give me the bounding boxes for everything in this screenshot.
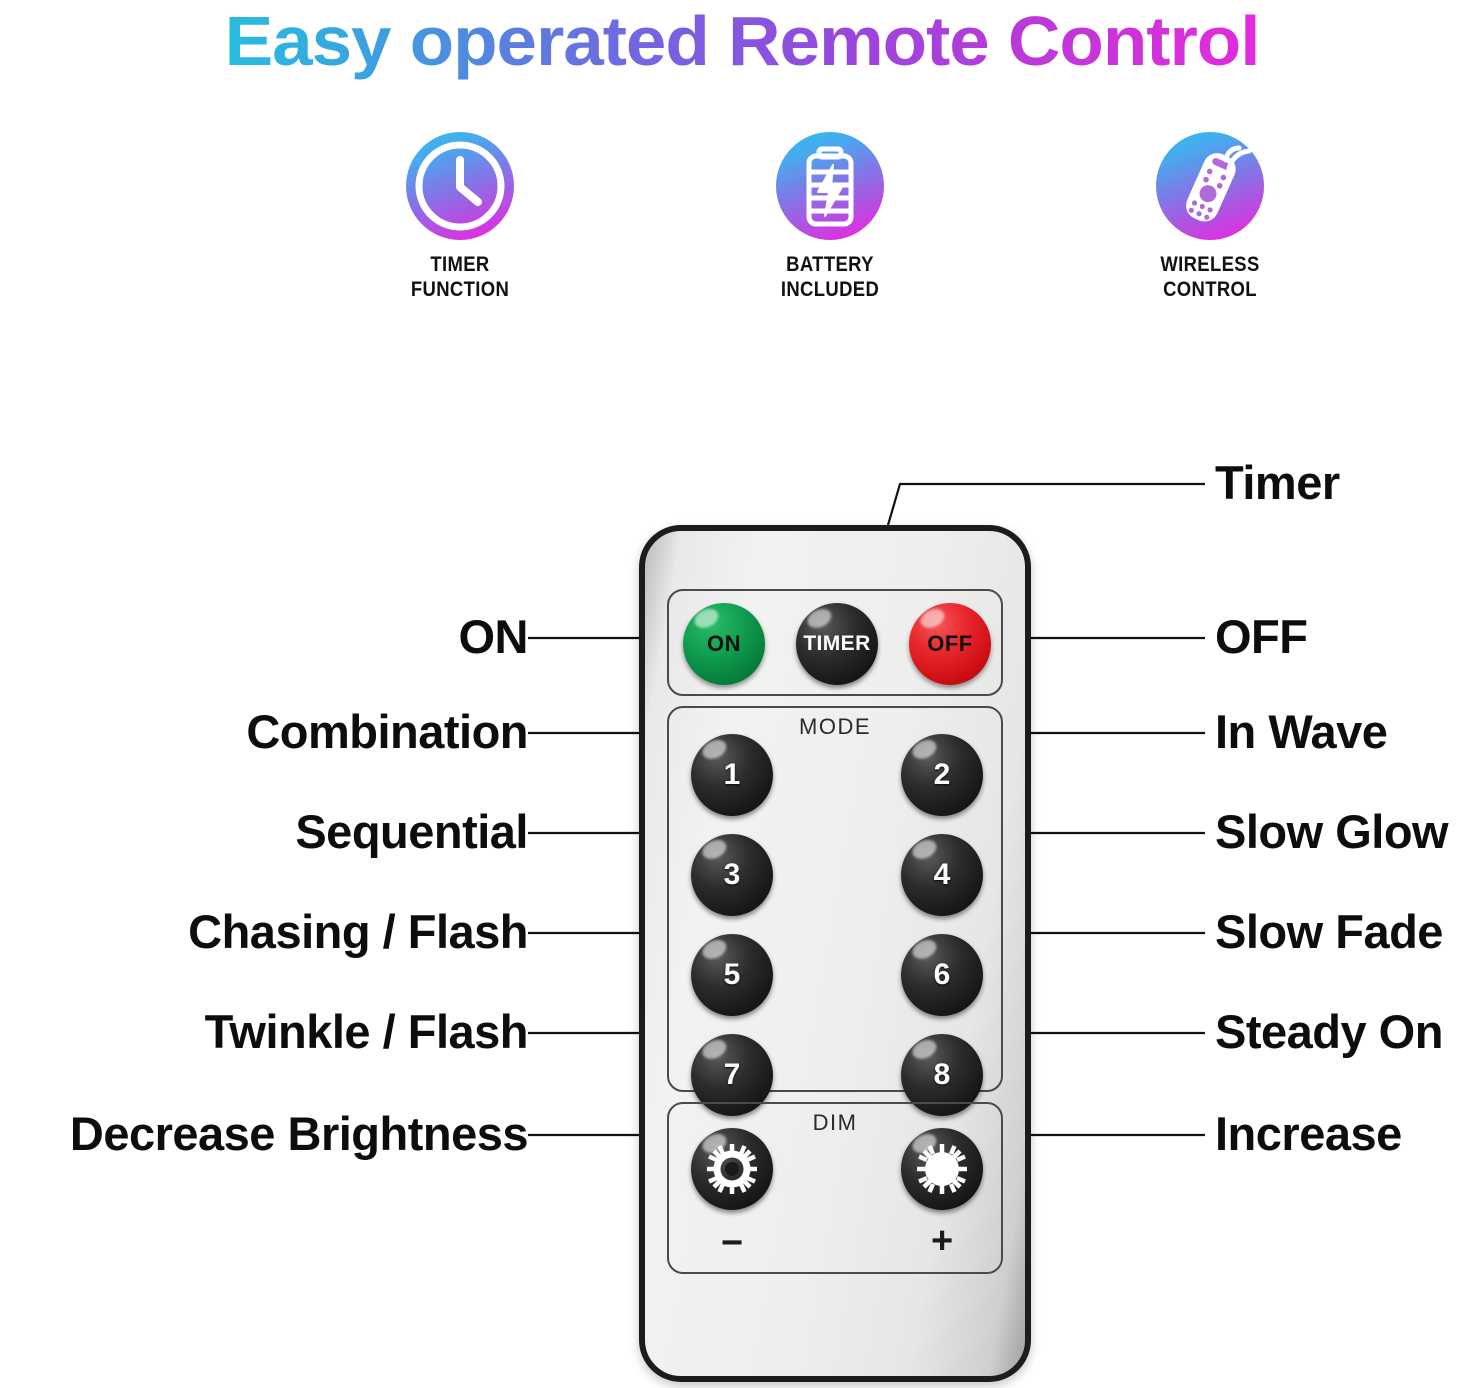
on-button-label: ON bbox=[683, 603, 765, 685]
brightness-down-icon bbox=[691, 1128, 773, 1210]
callout-sequential: Sequential bbox=[28, 806, 528, 858]
brightness-down-button[interactable] bbox=[691, 1128, 773, 1210]
mode-button-label: 2 bbox=[901, 734, 983, 816]
callout-off: OFF bbox=[1215, 611, 1307, 663]
mode-button-label: 6 bbox=[901, 934, 983, 1016]
dim-plus-label: + bbox=[931, 1222, 953, 1260]
infographic-root: Easy operated Remote Control TIMER FUNCT… bbox=[0, 0, 1484, 1388]
callout-steady-on: Steady On bbox=[1215, 1006, 1443, 1058]
dim-minus-label: − bbox=[721, 1224, 743, 1262]
mode-button-2[interactable]: 2 bbox=[901, 734, 983, 816]
off-button[interactable]: OFF bbox=[909, 603, 991, 685]
on-button[interactable]: ON bbox=[683, 603, 765, 685]
callout-combination: Combination bbox=[28, 706, 528, 758]
callout-increase: Increase bbox=[1215, 1108, 1402, 1160]
brightness-up-icon bbox=[901, 1128, 983, 1210]
mode-button-6[interactable]: 6 bbox=[901, 934, 983, 1016]
mode-button-4[interactable]: 4 bbox=[901, 834, 983, 916]
callout-chasing-flash: Chasing / Flash bbox=[28, 906, 528, 958]
mode-button-label: 5 bbox=[691, 934, 773, 1016]
mode-button-5[interactable]: 5 bbox=[691, 934, 773, 1016]
brightness-up-button[interactable] bbox=[901, 1128, 983, 1210]
timer-button-label: TIMER bbox=[796, 603, 878, 685]
callout-timer: Timer bbox=[1215, 457, 1340, 509]
off-button-label: OFF bbox=[909, 603, 991, 685]
mode-button-1[interactable]: 1 bbox=[691, 734, 773, 816]
mode-button-label: 1 bbox=[691, 734, 773, 816]
dim-panel: DIM bbox=[667, 1102, 1003, 1274]
remote-control-body: ON TIMER OFF MODE 1 2 bbox=[639, 525, 1031, 1382]
callout-slow-glow: Slow Glow bbox=[1215, 806, 1448, 858]
mode-panel: MODE 1 2 3 4 5 6 bbox=[667, 706, 1003, 1092]
callout-twinkle-flash: Twinkle / Flash bbox=[28, 1006, 528, 1058]
mode-button-label: 4 bbox=[901, 834, 983, 916]
callout-on: ON bbox=[28, 611, 528, 663]
callout-decrease-brightness: Decrease Brightness bbox=[0, 1108, 528, 1160]
mode-button-3[interactable]: 3 bbox=[691, 834, 773, 916]
power-panel: ON TIMER OFF bbox=[667, 589, 1003, 696]
callout-slow-fade: Slow Fade bbox=[1215, 906, 1443, 958]
callout-in-wave: In Wave bbox=[1215, 706, 1387, 758]
timer-button[interactable]: TIMER bbox=[796, 603, 878, 685]
mode-button-label: 3 bbox=[691, 834, 773, 916]
